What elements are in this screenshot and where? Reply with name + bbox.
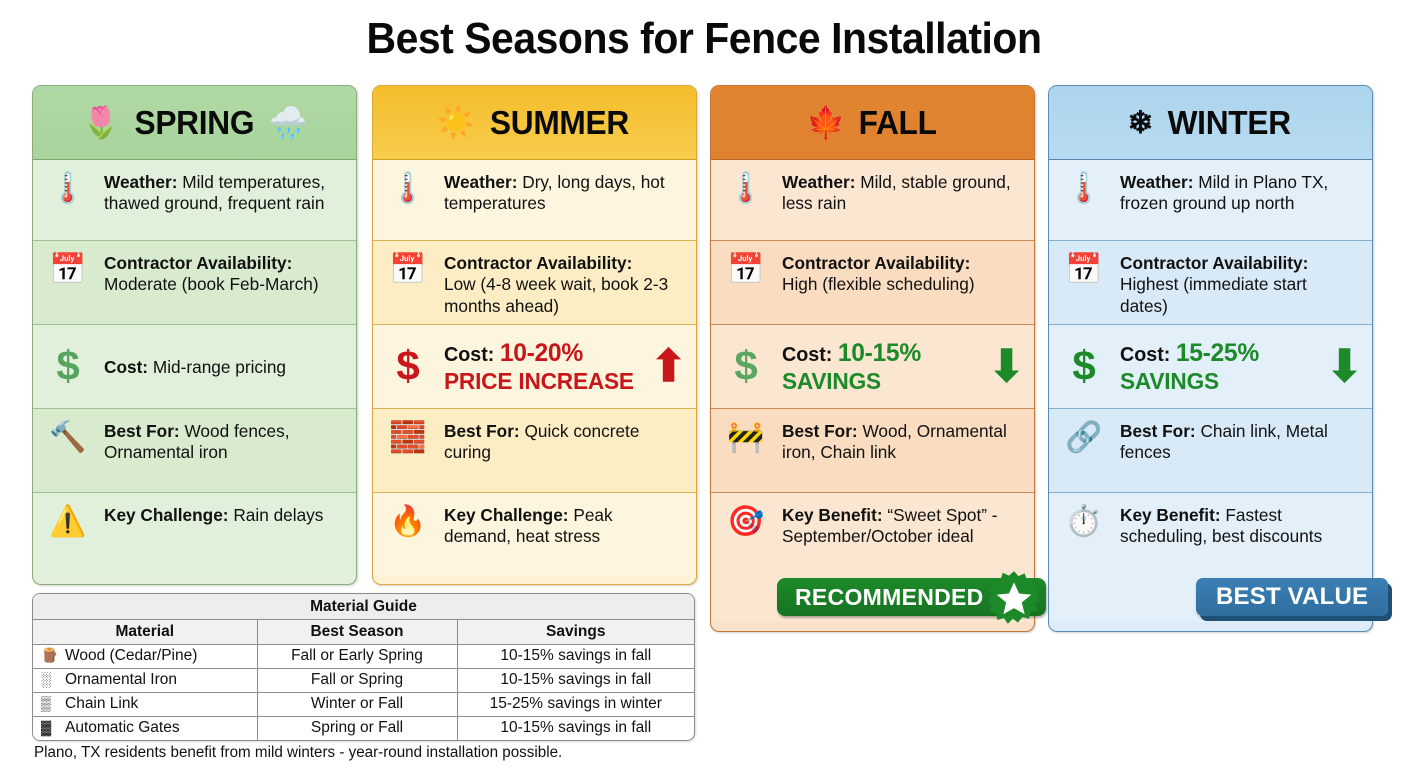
row-weather: 🌡️ Weather: Mild temperatures, thawed gr… [33,160,356,240]
automatic-gate-icon: ▓ [41,719,65,735]
cost-percent: 10-20% [500,339,583,367]
season-rows-summer: 🌡️ Weather: Dry, long days, hot temperat… [373,160,696,576]
season-rows-winter: 🌡️ Weather: Mild in Plano TX, frozen gro… [1049,160,1372,622]
maple-leaf-icon: 🍁 [807,107,845,138]
dollar-sign-icon: $ [720,344,772,388]
row-weather: 🌡️ Weather: Mild, stable ground, less ra… [711,160,1034,240]
row-weather: 🌡️ Weather: Mild in Plano TX, frozen gro… [1049,160,1372,240]
row-label: Key Challenge: [104,505,229,525]
season-header-summer: ☀️ SUMMER [373,86,696,160]
row-value: High (flexible scheduling) [782,274,975,294]
season-title-spring: SPRING [135,104,255,142]
season-title-fall: FALL [859,104,937,142]
table-row: ▓Automatic Gates Spring or Fall 10-15% s… [33,716,694,740]
cell-material: Wood (Cedar/Pine) [65,647,197,664]
row-label: Weather: [444,172,517,192]
row-label: Cost: [782,344,832,366]
iron-fence-icon: ░ [41,671,65,687]
row-label: Best For: [782,421,858,441]
cell-best-season: Winter or Fall [257,692,457,716]
row-value: Rain delays [233,505,323,525]
cost-percent: 10-15% [838,339,921,367]
footnote-text: Plano, TX residents benefit from mild wi… [34,744,562,762]
cost-direction-label: SAVINGS [782,368,881,394]
table-row: ▒Chain Link Winter or Fall 15-25% saving… [33,692,694,716]
thermometer-icon: 🌡️ [42,169,94,205]
sun-icon: ☀️ [437,107,475,138]
row-value: Mid-range pricing [153,357,286,377]
target-icon: 🎯 [720,502,772,538]
cell-savings: 10-15% savings in fall [457,668,694,692]
row-cost: $ Cost: 10-20% PRICE INCREASE ⬆ [373,324,696,408]
cell-best-season: Fall or Spring [257,668,457,692]
snowflake-icon: ❄ [1127,107,1153,138]
row-best-for: 🔨 Best For: Wood fences, Ornamental iron [33,408,356,492]
cell-best-season: Spring or Fall [257,716,457,740]
season-card-spring: 🌷 SPRING 🌧️ 🌡️ Weather: Mild temperature… [32,85,357,585]
row-label: Cost: [1120,344,1170,366]
table-header-row: Material Best Season Savings [33,620,694,644]
row-contractor-availability: 📅 Contractor Availability:Low (4-8 week … [373,240,696,324]
season-header-winter: ❄ WINTER [1049,86,1372,160]
table-row: 🪵Wood (Cedar/Pine) Fall or Early Spring … [33,644,694,668]
cell-savings: 10-15% savings in fall [457,716,694,740]
row-label: Key Benefit: [1120,505,1221,525]
hammer-and-plank-icon: 🔨 [42,418,94,454]
fire-clock-icon: 🔥 [382,502,434,538]
season-card-summer: ☀️ SUMMER 🌡️ Weather: Dry, long days, ho… [372,85,697,585]
row-best-for: 🔗 Best For: Chain link, Metal fences [1049,408,1372,492]
wood-fence-icon: 🪵 [41,647,65,664]
season-header-spring: 🌷 SPRING 🌧️ [33,86,356,160]
row-best-for: 🚧 Best For: Wood, Ornamental iron, Chain… [711,408,1034,492]
cost-direction-label: SAVINGS [1120,368,1219,394]
cell-best-season: Fall or Early Spring [257,644,457,668]
row-contractor-availability: 📅 Contractor Availability:High (flexible… [711,240,1034,324]
season-header-fall: 🍁 FALL [711,86,1034,160]
row-value: Highest (immediate start dates) [1120,274,1307,315]
stopwatch-icon: ⏱️ [1058,502,1110,538]
tulip-icon: 🌷 [82,107,120,138]
arrow-down-icon: ⬇ [988,349,1025,384]
cell-savings: 15-25% savings in winter [457,692,694,716]
row-cost: $ Cost: 10-15% SAVINGS ⬇ [711,324,1034,408]
row-key-challenge: ⚠️ Key Challenge: Rain delays [33,492,356,576]
row-label: Best For: [104,421,180,441]
row-key-challenge: 🔥 Key Challenge: Peak demand, heat stres… [373,492,696,576]
row-label: Cost: [104,357,148,377]
best-value-badge[interactable]: BEST VALUE [1196,578,1388,616]
row-label: Best For: [1120,421,1196,441]
table-row: ░Ornamental Iron Fall or Spring 10-15% s… [33,668,694,692]
row-cost: $ Cost: Mid-range pricing [33,324,356,408]
row-best-for: 🧱 Best For: Quick concrete curing [373,408,696,492]
cell-material: Chain Link [65,695,138,712]
dollar-sign-icon: $ [42,344,94,388]
season-card-winter: ❄ WINTER 🌡️ Weather: Mild in Plano TX, f… [1048,85,1373,632]
calendar-clock-icon: 📅 [720,250,772,286]
row-weather: 🌡️ Weather: Dry, long days, hot temperat… [373,160,696,240]
row-label: Cost: [444,344,494,366]
material-guide-title: Material Guide [33,594,694,620]
calendar-clock-icon: 📅 [382,250,434,286]
thermometer-icon: 🌡️ [1058,169,1110,205]
row-label: Key Challenge: [444,505,569,525]
row-label: Weather: [782,172,855,192]
calendar-clock-icon: 📅 [1058,250,1110,286]
arrow-down-icon: ⬇ [1326,349,1363,384]
cost-direction-label: PRICE INCREASE [444,368,634,394]
thermometer-icon: 🌡️ [720,169,772,205]
column-header-material: Material [33,620,257,644]
arrow-up-icon: ⬆ [650,349,687,384]
infographic-canvas: Best Seasons for Fence Installation 🌷 SP… [0,0,1408,768]
rain-cloud-icon: 🌧️ [269,107,307,138]
row-label: Weather: [104,172,177,192]
material-guide-table: Material Best Season Savings 🪵Wood (Ceda… [33,620,694,740]
row-label: Contractor Availability: [104,253,292,273]
row-value: Low (4-8 week wait, book 2-3 months ahea… [444,274,668,315]
row-label: Contractor Availability: [1120,253,1308,273]
row-label: Best For: [444,421,520,441]
calendar-clock-icon: 📅 [42,250,94,286]
column-header-savings: Savings [457,620,694,644]
row-contractor-availability: 📅 Contractor Availability:Moderate (book… [33,240,356,324]
cell-material: Ornamental Iron [65,671,177,688]
season-card-fall: 🍁 FALL 🌡️ Weather: Mild, stable ground, … [710,85,1035,632]
season-rows-spring: 🌡️ Weather: Mild temperatures, thawed gr… [33,160,356,576]
row-label: Key Benefit: [782,505,883,525]
row-label: Contractor Availability: [782,253,970,273]
season-title-summer: SUMMER [490,104,629,142]
thermometer-icon: 🌡️ [382,169,434,205]
row-cost: $ Cost: 15-25% SAVINGS ⬇ [1049,324,1372,408]
warning-triangle-icon: ⚠️ [42,502,94,538]
fence-icon: 🚧 [720,418,772,454]
cell-material: Automatic Gates [65,719,180,736]
concrete-block-icon: 🧱 [382,418,434,454]
material-guide-card: Material Guide Material Best Season Savi… [32,593,695,741]
season-rows-fall: 🌡️ Weather: Mild, stable ground, less ra… [711,160,1034,622]
row-label: Contractor Availability: [444,253,632,273]
row-contractor-availability: 📅 Contractor Availability:Highest (immed… [1049,240,1372,324]
row-value: Moderate (book Feb-March) [104,274,319,294]
dollar-sign-icon: $ [1058,344,1110,388]
row-label: Weather: [1120,172,1193,192]
column-header-best-season: Best Season [257,620,457,644]
cost-percent: 15-25% [1176,339,1259,367]
chain-link-icon: 🔗 [1058,418,1110,454]
cell-savings: 10-15% savings in fall [457,644,694,668]
page-title: Best Seasons for Fence Installation [49,14,1358,64]
chain-link-mesh-icon: ▒ [41,695,65,711]
dollar-sign-icon: $ [382,344,434,388]
star-seal-icon [986,570,1042,626]
season-title-winter: WINTER [1168,104,1291,142]
